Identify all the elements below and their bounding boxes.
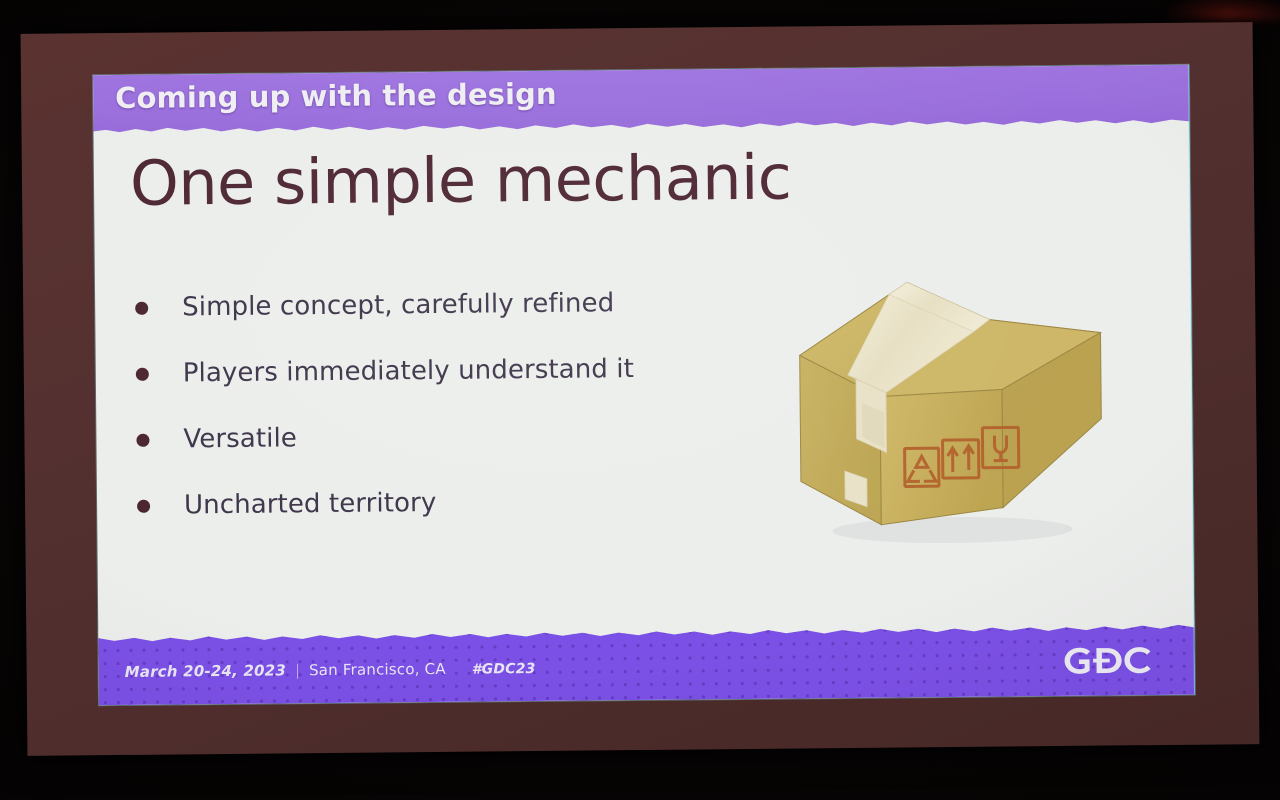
list-item: Simple concept, carefully refined xyxy=(135,269,756,341)
bullet-text: Versatile xyxy=(183,423,297,454)
bullet-dot-icon xyxy=(136,367,149,380)
slide-title: One simple mechanic xyxy=(130,141,792,220)
bullet-text: Simple concept, carefully refined xyxy=(182,288,614,322)
bullet-text: Uncharted territory xyxy=(184,488,437,520)
ambient-red-glare xyxy=(1168,0,1280,20)
projector-screen: Coming up with the design One simple mec… xyxy=(21,22,1260,756)
projection-room-background: Coming up with the design One simple mec… xyxy=(0,0,1280,800)
bullet-dot-icon xyxy=(136,433,149,446)
gdc-logo xyxy=(1061,643,1171,678)
slide-header-label: Coming up with the design xyxy=(115,77,557,115)
slide-footer-band: March 20-24, 2023 | San Francisco, CA #G… xyxy=(98,621,1195,706)
footer-separator: | xyxy=(295,661,300,679)
presentation-slide: Coming up with the design One simple mec… xyxy=(93,65,1195,705)
list-item: Uncharted territory xyxy=(137,467,758,539)
list-item: Players immediately understand it xyxy=(136,335,757,407)
cardboard-box-illustration xyxy=(785,260,1118,593)
bullet-list: Simple concept, carefully refined Player… xyxy=(135,269,758,539)
bullet-dot-icon xyxy=(135,301,148,314)
footer-city: San Francisco, CA xyxy=(309,660,446,679)
list-item: Versatile xyxy=(136,401,757,473)
torn-paper-edge-top xyxy=(93,112,1192,139)
footer-date: March 20-24, 2023 xyxy=(125,661,286,681)
slide-header-band: Coming up with the design xyxy=(93,65,1190,138)
footer-hashtag: #GDC23 xyxy=(472,661,536,678)
bullet-text: Players immediately understand it xyxy=(183,354,634,388)
bullet-dot-icon xyxy=(137,499,150,512)
box-shadow xyxy=(832,516,1072,544)
